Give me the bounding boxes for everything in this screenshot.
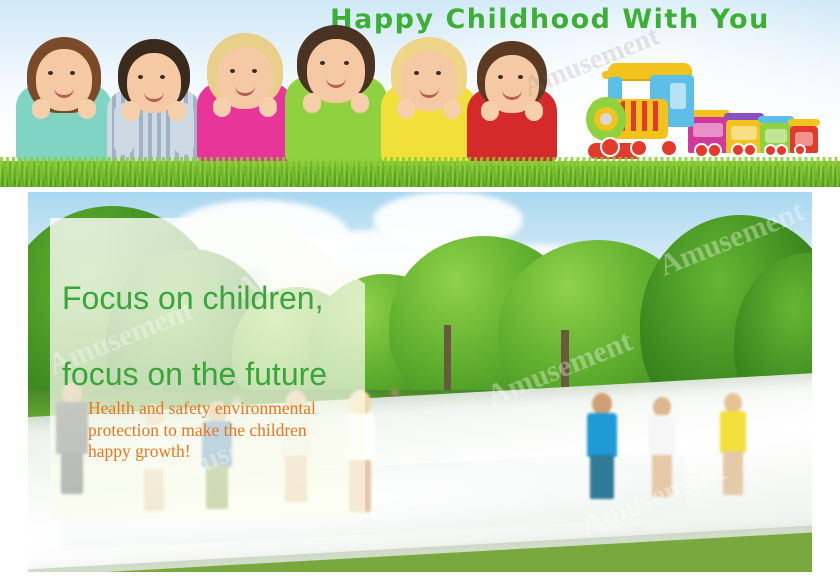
train-car-4-wheel bbox=[794, 144, 806, 156]
promo-banner-page: Happy Childhood With You bbox=[0, 0, 840, 582]
train-car-3-wheel-2 bbox=[775, 144, 788, 157]
child-4-eye-right bbox=[344, 61, 349, 65]
child-2-eye-left bbox=[138, 75, 143, 79]
hero-headline-line2: focus on the future bbox=[62, 356, 327, 393]
child-yellow-body bbox=[720, 411, 746, 453]
child-yellow-legs bbox=[723, 451, 743, 495]
foreground-child-white bbox=[647, 397, 677, 501]
child-4-eye-left bbox=[320, 61, 325, 65]
locomotive-wheel-2 bbox=[630, 139, 648, 157]
train-car-3-window bbox=[765, 129, 787, 143]
train-locomotive bbox=[586, 63, 694, 159]
child-white-head bbox=[653, 397, 671, 417]
train-car-4-roof bbox=[788, 119, 820, 126]
child-white-body bbox=[649, 415, 675, 457]
hero-headline-line1: Focus on children, bbox=[62, 280, 323, 317]
boy-teal-legs bbox=[590, 455, 614, 499]
child-3-eye-right bbox=[252, 69, 257, 73]
child-white-legs bbox=[652, 455, 672, 497]
child-6-boy-red bbox=[460, 39, 564, 163]
child-6-eye-left bbox=[498, 75, 503, 79]
train-car-3 bbox=[760, 123, 792, 153]
locomotive-cabin-window bbox=[670, 83, 686, 109]
child-1-eye-right bbox=[70, 71, 75, 75]
hero-subtext: Health and safety environmental protecti… bbox=[88, 398, 328, 463]
child-1-hand-left bbox=[32, 99, 50, 119]
child-4-hand-left bbox=[303, 93, 321, 113]
child-5-hand-left bbox=[397, 99, 415, 119]
child-2-hand-right bbox=[168, 101, 186, 121]
child-4-hand-right bbox=[351, 93, 369, 113]
locomotive-stripes bbox=[620, 101, 662, 131]
foreground-child-yellow bbox=[718, 393, 748, 499]
locomotive-wheel-1 bbox=[600, 137, 620, 157]
train-car-1 bbox=[688, 117, 728, 153]
train-car-1-wheel-2 bbox=[707, 143, 722, 158]
child-6-eye-right bbox=[518, 75, 523, 79]
train-car-2-wheel-2 bbox=[743, 143, 757, 157]
amusement-train bbox=[576, 45, 826, 165]
boy-teal-head bbox=[592, 393, 612, 415]
locomotive-wheel-3 bbox=[660, 139, 678, 157]
child-3-hand-left bbox=[213, 97, 231, 117]
foreground-boy-teal-shirt bbox=[585, 393, 619, 505]
child-1-eye-left bbox=[48, 71, 53, 75]
grass-strip bbox=[0, 161, 840, 187]
child-3-eye-left bbox=[230, 69, 235, 73]
boy-teal-body bbox=[587, 413, 617, 457]
train-car-1-window bbox=[693, 123, 723, 137]
child-1-hand-right bbox=[78, 99, 96, 119]
locomotive-headlight-icon bbox=[600, 113, 612, 125]
child-2-hand-left bbox=[122, 101, 140, 121]
children-group-photo bbox=[0, 23, 560, 163]
child-3-hand-right bbox=[259, 97, 277, 117]
train-car-4 bbox=[790, 126, 818, 153]
top-banner: Happy Childhood With You bbox=[0, 0, 840, 187]
child-6-hand-right bbox=[525, 101, 543, 121]
child-5-hand-right bbox=[443, 99, 461, 119]
child-yellow-head bbox=[724, 393, 742, 413]
child-5-eye-left bbox=[414, 71, 419, 75]
train-car-2-window bbox=[731, 126, 757, 140]
train-car-2 bbox=[726, 120, 762, 153]
child-5-eye-right bbox=[436, 71, 441, 75]
child-2-eye-right bbox=[160, 75, 165, 79]
child-6-hand-left bbox=[481, 101, 499, 121]
